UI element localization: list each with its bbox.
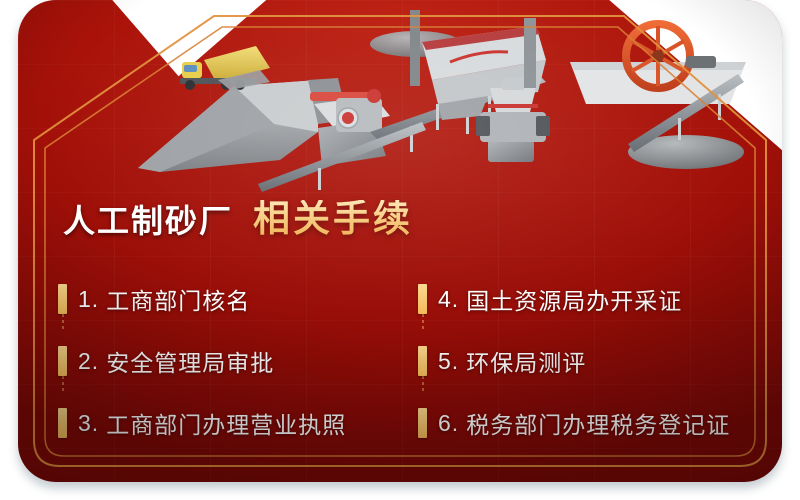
- poster-root: 人工制砂厂 相关手续 1. 工商部门核名 2. 安全管理局审批: [0, 0, 800, 500]
- poster-card: 人工制砂厂 相关手续 1. 工商部门核名 2. 安全管理局审批: [18, 0, 782, 482]
- vignette-overlay: [18, 0, 782, 482]
